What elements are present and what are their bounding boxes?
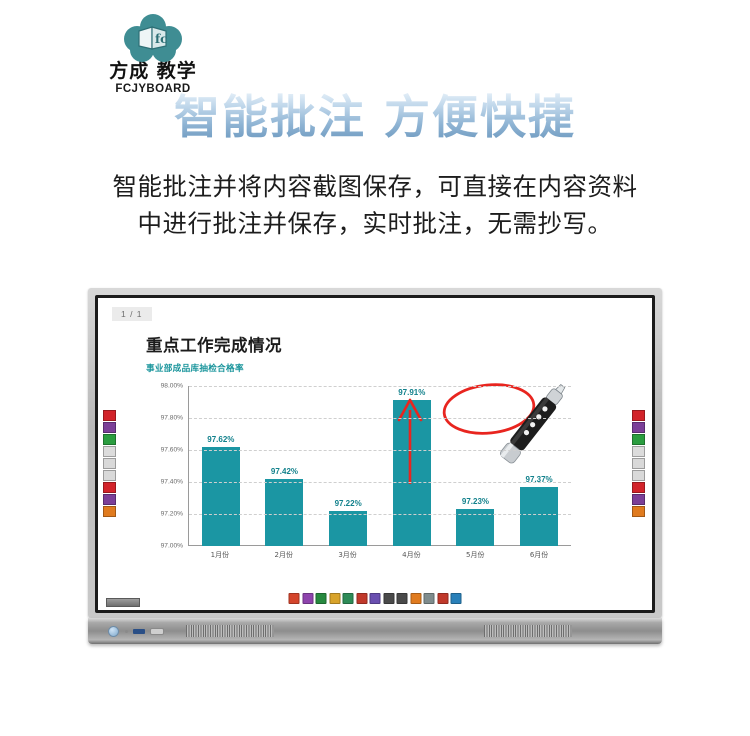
save-as-icon[interactable] (329, 593, 340, 604)
help-icon[interactable] (437, 593, 448, 604)
right-tool-strip[interactable] (632, 410, 647, 517)
open-file-icon[interactable] (289, 593, 300, 604)
annotate-icon[interactable] (370, 593, 381, 604)
x-axis-tick-label: 3月份 (326, 550, 370, 560)
bar-value-label: 97.22% (335, 499, 362, 508)
bar-value-label: 97.62% (207, 435, 234, 444)
x-axis-labels: 1月份2月份3月份4月份5月份6月份 (188, 550, 571, 560)
undo-icon[interactable] (632, 458, 645, 469)
gridline (189, 418, 571, 419)
chart-bar (265, 479, 303, 546)
gridline (189, 482, 571, 483)
capture-tool-icon[interactable] (103, 506, 116, 517)
chart-bar (520, 487, 558, 546)
chart-bar-column: 97.22% (326, 386, 370, 546)
left-tool-strip[interactable] (103, 410, 118, 517)
color-palette-icon[interactable] (103, 434, 116, 445)
subheadline-line-2: 中进行批注并保存，实时批注，无需抄写。 (52, 205, 698, 242)
book-icon: fc (136, 22, 170, 54)
chart-container: 重点工作完成情况 事业部成品库抽检合格率 97.00%97.20%97.40%9… (146, 332, 586, 580)
export-icon[interactable] (356, 593, 367, 604)
chart-bar (329, 511, 367, 546)
redo-icon[interactable] (103, 470, 116, 481)
chart-title: 重点工作完成情况 (146, 332, 586, 356)
y-axis: 97.00%97.20%97.40%97.60%97.80%98.00% (146, 386, 186, 546)
interactive-whiteboard-device: 1 / 1 重点工作完成情况 事业部成品库抽检合格率 97.00%97.20%9… (88, 288, 662, 658)
page-indicator: 1 / 1 (112, 307, 152, 321)
whiteboard-screen[interactable]: 1 / 1 重点工作完成情况 事业部成品库抽检合格率 97.00%97.20%9… (98, 298, 652, 610)
status-led-icon (125, 630, 128, 633)
gridline (189, 386, 571, 387)
pen-tool-icon[interactable] (103, 410, 116, 421)
flower-book-logo-icon: fc (124, 14, 182, 60)
y-axis-tick-label: 97.00% (161, 543, 183, 550)
chart-bar-column: 97.42% (262, 386, 306, 546)
svg-text:fc: fc (155, 32, 167, 46)
device-bottom-bar (88, 618, 662, 644)
gallery-icon[interactable] (424, 593, 435, 604)
y-axis-tick-label: 97.20% (161, 511, 183, 518)
speaker-grille-right (484, 625, 572, 637)
brand-name-cn: 方成 教学 (78, 62, 228, 82)
chart-bar-column: 97.91% (390, 386, 434, 546)
delete-tool-icon[interactable] (103, 482, 116, 493)
y-axis-tick-label: 98.00% (161, 383, 183, 390)
eraser-tool-icon[interactable] (103, 446, 116, 457)
x-axis-tick-label: 6月份 (517, 550, 561, 560)
highlighter-tool-icon[interactable] (103, 422, 116, 433)
highlighter-tool-icon[interactable] (632, 422, 645, 433)
shape-tool-icon[interactable] (632, 494, 645, 505)
chart-bar (393, 400, 431, 546)
page-subheadline: 智能批注并将内容截图保存，可直接在内容资料 中进行批注并保存，实时批注，无需抄写… (52, 168, 698, 242)
save-icon[interactable] (316, 593, 327, 604)
y-axis-tick-label: 97.40% (161, 479, 183, 486)
redo-icon[interactable] (632, 470, 645, 481)
y-axis-tick-label: 97.60% (161, 447, 183, 454)
bar-value-label: 97.42% (271, 467, 298, 476)
screen-mini-widget[interactable] (106, 598, 140, 607)
device-bezel: 1 / 1 重点工作完成情况 事业部成品库抽检合格率 97.00%97.20%9… (88, 288, 662, 618)
chart-bar (202, 447, 240, 546)
chart-plot-area: 97.00%97.20%97.40%97.60%97.80%98.00% 97.… (146, 386, 571, 568)
list-view-icon[interactable] (383, 593, 394, 604)
gridline (189, 450, 571, 451)
shape-tool-icon[interactable] (103, 494, 116, 505)
import-icon[interactable] (343, 593, 354, 604)
eraser-tool-icon[interactable] (632, 446, 645, 457)
settings-icon[interactable] (451, 593, 462, 604)
bar-value-label: 97.23% (462, 497, 489, 506)
device-screen-frame: 1 / 1 重点工作完成情况 事业部成品库抽检合格率 97.00%97.20%9… (95, 295, 655, 613)
brand-logo: fc 方成 教学 FCJYBOARD (78, 14, 228, 86)
power-button-icon[interactable] (108, 626, 119, 637)
x-axis-tick-label: 4月份 (389, 550, 433, 560)
x-axis-tick-label: 2月份 (262, 550, 306, 560)
edit-icon[interactable] (302, 593, 313, 604)
chart-grid: 97.62%97.42%97.22%97.91%97.23%97.37% (188, 386, 571, 546)
bar-value-label: 97.91% (398, 388, 425, 397)
x-axis-tick-label: 1月份 (198, 550, 242, 560)
speaker-grille-left (186, 625, 274, 637)
gridline (189, 514, 571, 515)
x-axis-tick-label: 5月份 (453, 550, 497, 560)
screen-bottom-toolbar[interactable] (289, 593, 462, 604)
promo-page: fc 方成 教学 FCJYBOARD 智能批注 方便快捷 智能批注并将内容截图保… (0, 0, 750, 736)
y-axis-tick-label: 97.80% (161, 415, 183, 422)
chart-bar-column: 97.62% (199, 386, 243, 546)
stylus-pen-icon (489, 378, 573, 474)
capture-tool-icon[interactable] (632, 506, 645, 517)
page-headline: 智能批注 方便快捷 (0, 92, 750, 144)
usb-port-icon[interactable] (133, 629, 145, 634)
undo-icon[interactable] (103, 458, 116, 469)
sort-icon[interactable] (397, 593, 408, 604)
color-palette-icon[interactable] (632, 434, 645, 445)
subheadline-line-1: 智能批注并将内容截图保存，可直接在内容资料 (52, 168, 698, 205)
delete-tool-icon[interactable] (632, 482, 645, 493)
chart-subtitle: 事业部成品库抽检合格率 (146, 362, 586, 374)
apps-icon[interactable] (410, 593, 421, 604)
pen-tool-icon[interactable] (632, 410, 645, 421)
aux-port-icon[interactable] (150, 628, 164, 635)
